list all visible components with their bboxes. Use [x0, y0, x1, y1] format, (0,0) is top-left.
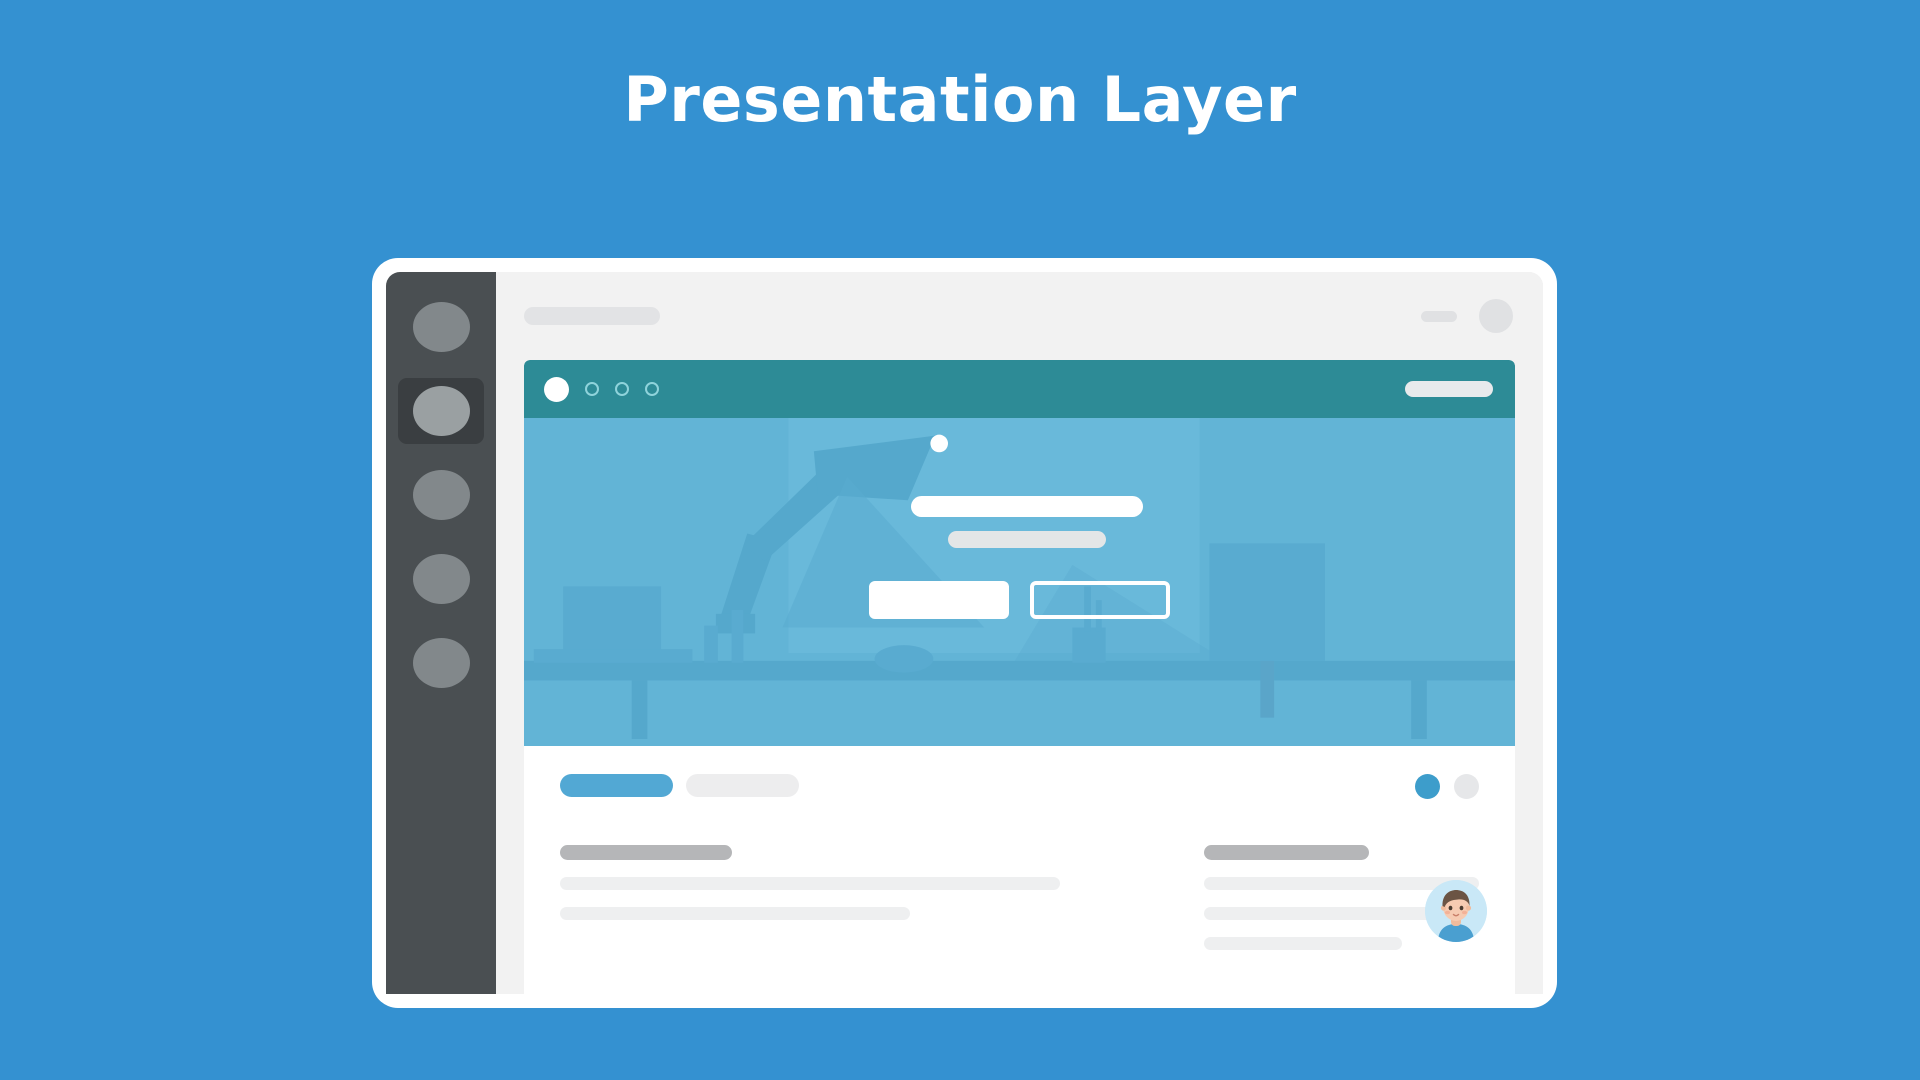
window-dot-active-icon[interactable]	[544, 377, 569, 402]
content-columns	[560, 845, 1479, 950]
hero-primary-button[interactable]	[869, 581, 1009, 619]
toolbar-avatar[interactable]	[1479, 299, 1513, 333]
toolbar-menu-pill[interactable]	[1421, 311, 1457, 322]
tab-bar	[560, 774, 1479, 797]
tab-1[interactable]	[560, 774, 673, 797]
window-dot-1-icon[interactable]	[585, 382, 599, 396]
sidebar-item-1[interactable]	[398, 294, 484, 360]
tab-2[interactable]	[686, 774, 799, 797]
hero-banner	[524, 418, 1515, 746]
window-dot-2-icon[interactable]	[615, 382, 629, 396]
browser-titlebar	[524, 360, 1515, 418]
left-column-heading	[560, 845, 732, 860]
app-main-column	[496, 272, 1543, 994]
left-column-line	[560, 907, 910, 920]
sidebar-item-5[interactable]	[398, 630, 484, 696]
device-screen	[386, 272, 1543, 994]
pagination-dot-2[interactable]	[1454, 774, 1479, 799]
content-column-left	[560, 845, 1075, 950]
circle-icon	[413, 554, 470, 604]
browser-url-bar[interactable]	[1405, 381, 1493, 397]
person-avatar-icon	[1425, 880, 1487, 942]
sidebar-item-2[interactable]	[398, 378, 484, 444]
browser-window	[524, 360, 1515, 994]
device-frame	[372, 258, 1557, 1008]
hero-button-group	[869, 581, 1170, 619]
right-column-line	[1204, 937, 1402, 950]
circle-icon	[413, 302, 470, 352]
app-sidebar	[386, 272, 496, 994]
hero-secondary-button[interactable]	[1030, 581, 1170, 619]
hero-content	[524, 496, 1515, 619]
hero-subheadline	[948, 531, 1106, 548]
circle-icon	[413, 470, 470, 520]
page-root: Presentation Layer	[0, 0, 1920, 1080]
sidebar-item-3[interactable]	[398, 462, 484, 528]
pagination-dots	[1415, 774, 1479, 799]
app-toolbar	[496, 272, 1543, 360]
circle-icon	[413, 386, 470, 436]
sidebar-item-4[interactable]	[398, 546, 484, 612]
circle-icon	[413, 638, 470, 688]
window-dot-3-icon[interactable]	[645, 382, 659, 396]
right-column-heading	[1204, 845, 1369, 860]
left-column-line	[560, 877, 1060, 890]
hero-headline	[911, 496, 1143, 517]
pagination-dot-1[interactable]	[1415, 774, 1440, 799]
app-logo	[524, 307, 660, 325]
page-title: Presentation Layer	[0, 66, 1920, 134]
user-avatar[interactable]	[1425, 880, 1487, 942]
content-area	[524, 746, 1515, 994]
